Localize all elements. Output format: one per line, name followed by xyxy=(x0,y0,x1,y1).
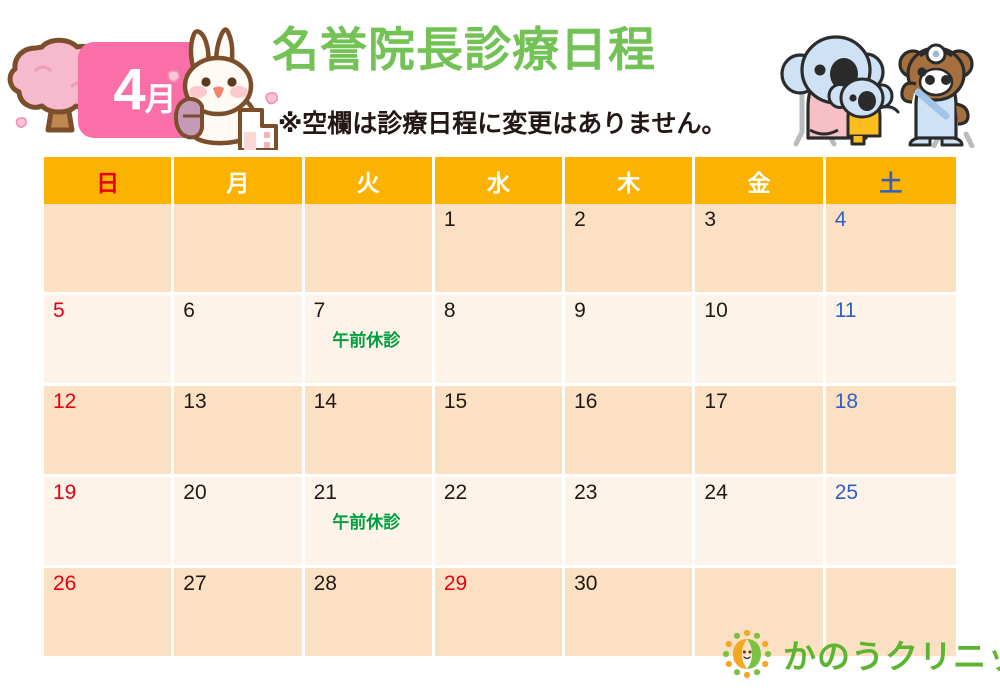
day-number: 16 xyxy=(574,390,692,413)
weekday-header-friday: 金 xyxy=(695,157,825,204)
day-number: 15 xyxy=(444,390,562,413)
weekday-header-tuesday: 火 xyxy=(305,157,435,204)
calendar-day-cell[interactable]: 1 xyxy=(435,204,565,295)
day-number: 13 xyxy=(183,390,301,413)
calendar-empty-cell xyxy=(174,204,304,295)
day-number: 26 xyxy=(53,572,171,595)
page-header: 4月 名誉院長診療日程 ※空欄は診療日程に変更はありません。 xyxy=(0,0,1000,155)
day-number: 12 xyxy=(53,390,171,413)
day-number: 23 xyxy=(574,481,692,504)
day-number: 27 xyxy=(183,572,301,595)
calendar-day-cell[interactable]: 20 xyxy=(174,477,304,568)
calendar-day-cell[interactable]: 26 xyxy=(44,568,174,656)
calendar-day-cell[interactable]: 9 xyxy=(565,295,695,386)
day-number: 7 xyxy=(314,299,432,322)
calendar-day-cell[interactable]: 15 xyxy=(435,386,565,477)
calendar-day-cell[interactable]: 13 xyxy=(174,386,304,477)
calendar-day-cell[interactable]: 25 xyxy=(826,477,956,568)
page-title: 名誉院長診療日程 xyxy=(272,24,656,77)
calendar-day-cell[interactable]: 10 xyxy=(695,295,825,386)
day-number: 19 xyxy=(53,481,171,504)
calendar-day-cell[interactable]: 5 xyxy=(44,295,174,386)
weekday-header-saturday: 土 xyxy=(826,157,956,204)
day-note: 午前休診 xyxy=(305,508,428,533)
calendar-week-row: 192021午前休診22232425 xyxy=(44,477,956,568)
calendar-day-cell[interactable]: 23 xyxy=(565,477,695,568)
calendar-day-cell[interactable]: 18 xyxy=(826,386,956,477)
day-number: 25 xyxy=(835,481,956,504)
day-number: 6 xyxy=(183,299,301,322)
calendar-day-cell[interactable]: 21午前休診 xyxy=(305,477,435,568)
month-number: 4 xyxy=(113,61,143,119)
calendar-day-cell[interactable]: 14 xyxy=(305,386,435,477)
calendar-week-row: 567午前休診891011 xyxy=(44,295,956,386)
day-number: 8 xyxy=(444,299,562,322)
calendar-day-cell[interactable]: 8 xyxy=(435,295,565,386)
calendar-day-cell[interactable]: 17 xyxy=(695,386,825,477)
rabbit-mascot-icon xyxy=(156,24,280,150)
calendar-day-cell[interactable]: 22 xyxy=(435,477,565,568)
calendar-day-cell[interactable]: 12 xyxy=(44,386,174,477)
day-number: 4 xyxy=(835,208,956,231)
calendar-day-cell[interactable]: 30 xyxy=(565,568,695,656)
day-number: 9 xyxy=(574,299,692,322)
clinic-name: かのうクリニック xyxy=(783,630,1000,678)
weekday-header-wednesday: 水 xyxy=(435,157,565,204)
day-number: 5 xyxy=(53,299,171,322)
day-number: 28 xyxy=(314,572,432,595)
calendar-day-cell[interactable]: 6 xyxy=(174,295,304,386)
schedule-calendar: 日 月 火 水 木 金 土 1234567午前休診891011121314151… xyxy=(44,157,956,656)
calendar-day-cell[interactable]: 4 xyxy=(826,204,956,295)
calendar-day-cell[interactable]: 28 xyxy=(305,568,435,656)
calendar-week-row: 1234 xyxy=(44,204,956,295)
day-note: 午前休診 xyxy=(305,326,428,351)
bear-doctor-icon xyxy=(900,45,972,145)
day-number: 17 xyxy=(704,390,822,413)
sun-smiley-logo-icon xyxy=(722,629,772,679)
day-number: 10 xyxy=(704,299,822,322)
calendar-day-cell[interactable]: 7午前休診 xyxy=(305,295,435,386)
calendar-body: 1234567午前休診89101112131415161718192021午前休… xyxy=(44,204,956,656)
calendar-day-cell[interactable]: 16 xyxy=(565,386,695,477)
day-number: 14 xyxy=(314,390,432,413)
calendar-empty-cell xyxy=(305,204,435,295)
calendar-day-cell[interactable]: 27 xyxy=(174,568,304,656)
day-number: 18 xyxy=(835,390,956,413)
calendar-header-row: 日 月 火 水 木 金 土 xyxy=(44,157,956,204)
day-number: 21 xyxy=(314,481,432,504)
day-number: 22 xyxy=(444,481,562,504)
clinic-logo: かのうクリニック xyxy=(722,628,1000,680)
clinic-mascots-illustration xyxy=(770,12,998,148)
weekday-header-thursday: 木 xyxy=(565,157,695,204)
day-number: 1 xyxy=(444,208,562,231)
day-number: 3 xyxy=(704,208,822,231)
calendar-day-cell[interactable]: 24 xyxy=(695,477,825,568)
weekday-header-monday: 月 xyxy=(174,157,304,204)
weekday-header-sunday: 日 xyxy=(44,157,174,204)
day-number: 30 xyxy=(574,572,692,595)
calendar-empty-cell xyxy=(44,204,174,295)
calendar-day-cell[interactable]: 2 xyxy=(565,204,695,295)
calendar-day-cell[interactable]: 11 xyxy=(826,295,956,386)
calendar-day-cell[interactable]: 3 xyxy=(695,204,825,295)
day-number: 24 xyxy=(704,481,822,504)
day-number: 20 xyxy=(183,481,301,504)
calendar-week-row: 12131415161718 xyxy=(44,386,956,477)
calendar-day-cell[interactable]: 29 xyxy=(435,568,565,656)
day-number: 2 xyxy=(574,208,692,231)
calendar-day-cell[interactable]: 19 xyxy=(44,477,174,568)
page-subtitle: ※空欄は診療日程に変更はありません。 xyxy=(278,104,727,140)
day-number: 11 xyxy=(835,299,956,322)
day-number: 29 xyxy=(444,572,562,595)
